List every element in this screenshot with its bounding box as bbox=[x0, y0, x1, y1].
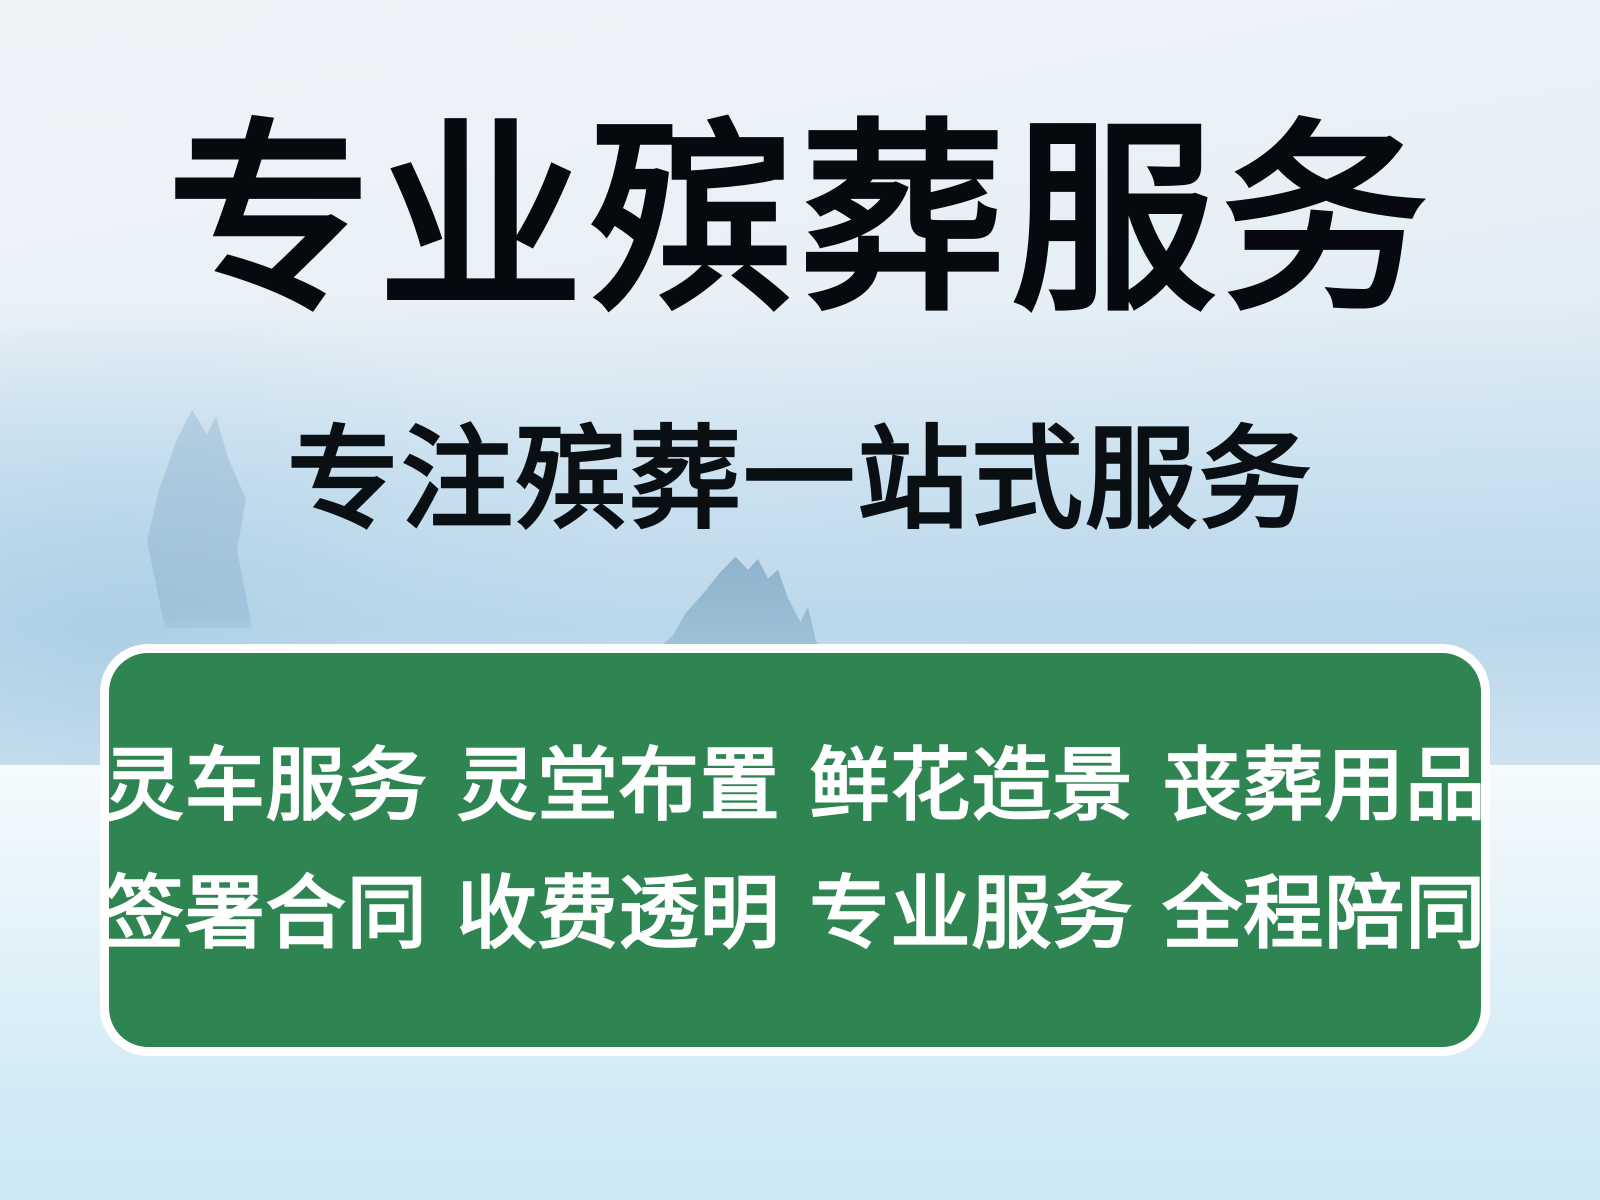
service-panel: 灵车服务 灵堂布置 鲜花造景 丧葬用品 签署合同 收费透明 专业服务 全程陪同 bbox=[100, 644, 1490, 1056]
service-line-2: 签署合同 收费透明 专业服务 全程陪同 bbox=[104, 861, 1487, 967]
poster-canvas: 专业殡葬服务 专注殡葬一站式服务 灵车服务 灵堂布置 鲜花造景 丧葬用品 签署合… bbox=[0, 0, 1600, 1200]
page-title: 专业殡葬服务 bbox=[0, 118, 1600, 323]
service-line-1: 灵车服务 灵堂布置 鲜花造景 丧葬用品 bbox=[104, 733, 1487, 839]
page-subtitle: 专注殡葬一站式服务 bbox=[0, 424, 1600, 536]
